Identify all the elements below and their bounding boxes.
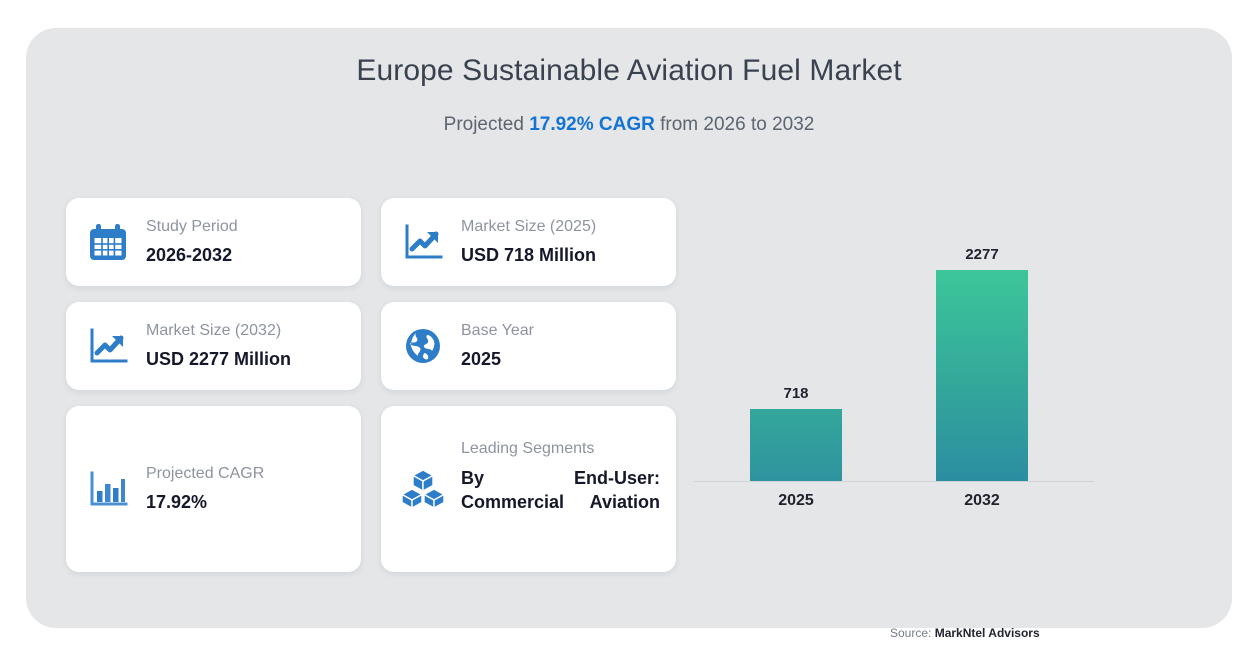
trending-up-icon	[82, 320, 134, 372]
source-prefix: Source:	[890, 626, 935, 640]
body-area: Study Period 2026-2032 Market Size (2025…	[26, 178, 1232, 628]
bar-2032[interactable]	[936, 270, 1028, 481]
stat-card-value: USD 2277 Million	[146, 347, 345, 371]
chart-plot-area: 718 2277 2025 2032 Source: MarkNtel Advi…	[694, 236, 1094, 526]
stat-card-text: Base Year 2025	[461, 321, 660, 371]
stat-card-value: 17.92%	[146, 490, 345, 514]
subtitle-prefix: Projected	[444, 114, 530, 135]
bar-2025[interactable]	[750, 409, 842, 481]
bar-group-2025[interactable]: 718	[750, 385, 842, 481]
x-tick-label-2025: 2025	[750, 492, 842, 510]
stat-card-label: Market Size (2025)	[461, 217, 660, 236]
x-tick-label-2032: 2032	[936, 492, 1028, 510]
bar-chart-icon	[82, 463, 134, 515]
page-title: Europe Sustainable Aviation Fuel Market	[26, 54, 1232, 88]
stat-card-projected-cagr[interactable]: Projected CAGR 17.92%	[66, 406, 361, 572]
subtitle-suffix: from 2026 to 2032	[655, 114, 815, 135]
stat-card-label: Leading Segments	[461, 439, 660, 458]
bar-chart: 718 2277 2025 2032 Source: MarkNtel Advi…	[676, 178, 1232, 628]
stat-card-study-period[interactable]: Study Period 2026-2032	[66, 198, 361, 286]
chart-baseline	[694, 481, 1094, 482]
source-name: MarkNtel Advisors	[935, 626, 1040, 640]
stat-card-value: 2025	[461, 347, 660, 371]
infographic-panel: Europe Sustainable Aviation Fuel Market …	[26, 28, 1232, 628]
stat-card-value: By End-User: Commercial Aviation	[461, 466, 660, 539]
stat-card-market-size-2025[interactable]: Market Size (2025) USD 718 Million	[381, 198, 676, 286]
subtitle-cagr-accent: 17.92% CAGR	[529, 114, 655, 135]
stat-card-text: Study Period 2026-2032	[146, 217, 345, 267]
stat-card-text: Market Size (2025) USD 718 Million	[461, 217, 660, 267]
stat-card-text: Leading Segments By End-User: Commercial…	[461, 439, 660, 538]
stat-card-text: Market Size (2032) USD 2277 Million	[146, 321, 345, 371]
stat-card-market-size-2032[interactable]: Market Size (2032) USD 2277 Million	[66, 302, 361, 390]
stat-card-row-3: Projected CAGR 17.92%	[66, 406, 676, 572]
stat-card-label: Market Size (2032)	[146, 321, 345, 340]
stat-card-label: Projected CAGR	[146, 464, 345, 483]
stat-card-row-2: Market Size (2032) USD 2277 Million	[66, 302, 676, 390]
stat-cards-column: Study Period 2026-2032 Market Size (2025…	[26, 178, 676, 628]
stat-card-text: Projected CAGR 17.92%	[146, 464, 345, 514]
bar-group-2032[interactable]: 2277	[936, 246, 1028, 481]
stat-card-label: Base Year	[461, 321, 660, 340]
bar-value-label: 2277	[965, 246, 998, 263]
stat-card-label: Study Period	[146, 217, 345, 236]
stat-card-leading-segments[interactable]: Leading Segments By End-User: Commercial…	[381, 406, 676, 572]
calendar-icon	[82, 216, 134, 268]
stat-card-value: USD 718 Million	[461, 243, 660, 267]
stat-card-value: 2026-2032	[146, 243, 345, 267]
globe-icon	[397, 320, 449, 372]
header: Europe Sustainable Aviation Fuel Market …	[26, 28, 1232, 136]
stat-card-base-year[interactable]: Base Year 2025	[381, 302, 676, 390]
source-attribution: Source: MarkNtel Advisors	[890, 626, 1040, 640]
trending-up-icon	[397, 216, 449, 268]
cubes-icon	[397, 463, 449, 515]
bar-value-label: 718	[783, 385, 808, 402]
subtitle: Projected 17.92% CAGR from 2026 to 2032	[26, 114, 1232, 136]
stat-card-row-1: Study Period 2026-2032 Market Size (2025…	[66, 198, 676, 286]
